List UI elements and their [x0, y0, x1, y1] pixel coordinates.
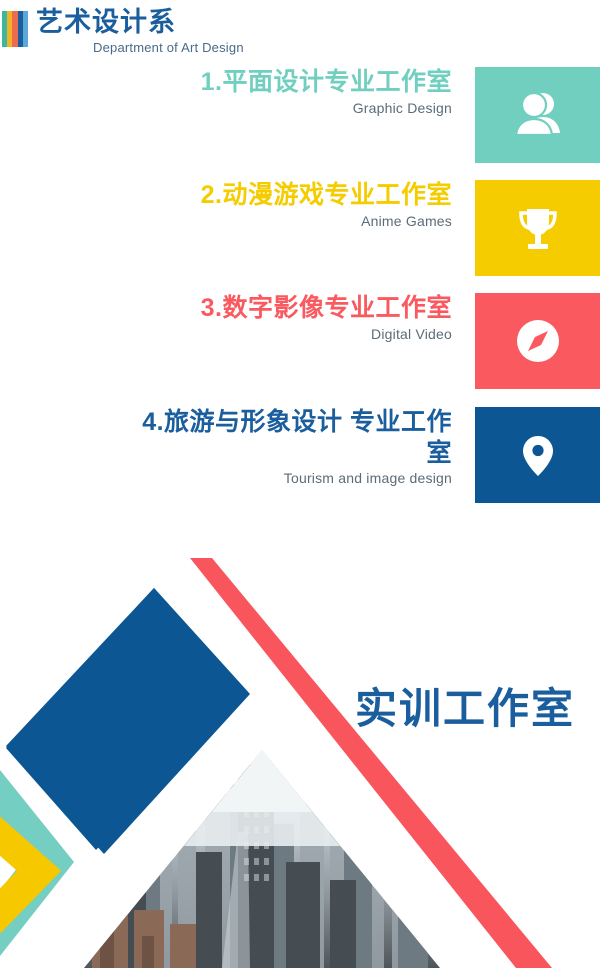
- list-item[interactable]: 1.平面设计专业工作室 Graphic Design: [0, 67, 600, 163]
- program-text-block: 1.平面设计专业工作室 Graphic Design: [120, 67, 455, 163]
- program-subtitle: Graphic Design: [120, 100, 452, 117]
- department-logo: [2, 11, 28, 47]
- hero-title: 实训工作室: [355, 688, 575, 730]
- program-tile[interactable]: [475, 407, 600, 503]
- department-title-en: Department of Art Design: [93, 40, 244, 55]
- program-text-block: 4.旅游与形象设计 专业工作室 Tourism and image design: [120, 407, 455, 503]
- compass-icon: [511, 314, 565, 368]
- program-list: 1.平面设计专业工作室 Graphic Design 2.动漫游戏专业工作室 A: [0, 62, 600, 532]
- program-name: 4.旅游与形象设计 专业工作室: [120, 407, 452, 468]
- department-title-cn: 艺术设计系: [36, 8, 176, 38]
- program-subtitle: Tourism and image design: [120, 470, 452, 487]
- program-name: 1.平面设计专业工作室: [120, 67, 452, 98]
- list-item[interactable]: 3.数字影像专业工作室 Digital Video: [0, 293, 600, 389]
- program-tile[interactable]: [475, 293, 600, 389]
- program-name: 2.动漫游戏专业工作室: [120, 180, 452, 211]
- trophy-icon: [511, 201, 565, 255]
- program-subtitle: Digital Video: [120, 326, 452, 343]
- logo-bar-5: [23, 11, 28, 47]
- map-pin-icon: [511, 428, 565, 482]
- hero-graphic: [0, 532, 600, 968]
- program-text-block: 2.动漫游戏专业工作室 Anime Games: [120, 180, 455, 276]
- program-tile[interactable]: [475, 180, 600, 276]
- users-icon: [508, 85, 568, 145]
- program-subtitle: Anime Games: [120, 213, 452, 230]
- list-item[interactable]: 2.动漫游戏专业工作室 Anime Games: [0, 180, 600, 276]
- program-text-block: 3.数字影像专业工作室 Digital Video: [120, 293, 455, 389]
- page-header: 艺术设计系 Department of Art Design: [0, 0, 600, 62]
- program-name: 3.数字影像专业工作室: [120, 293, 452, 324]
- program-tile[interactable]: [475, 67, 600, 163]
- list-item[interactable]: 4.旅游与形象设计 专业工作室 Tourism and image design: [0, 407, 600, 503]
- slide-page: 艺术设计系 Department of Art Design 1.平面设计专业工…: [0, 0, 600, 968]
